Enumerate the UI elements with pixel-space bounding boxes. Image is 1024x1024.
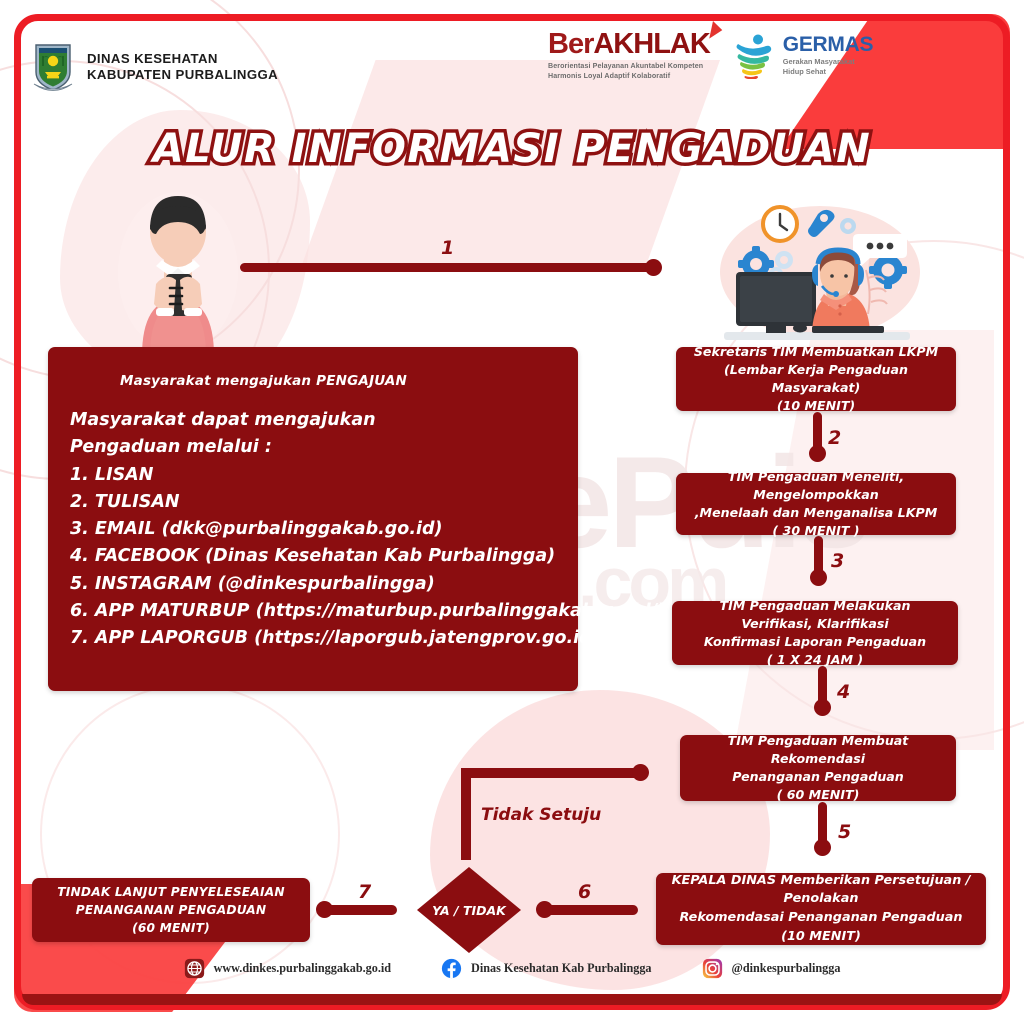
list-item: 1. LISAN [70, 462, 556, 489]
list-item: 4. FACEBOOK (Dinas Kesehatan Kab Purbali… [70, 543, 556, 570]
organization-logo-block: DINAS KESEHATAN KABUPATEN PURBALINGGA [32, 42, 278, 92]
germas-sub-1: Gerakan Masyarakat [783, 57, 873, 67]
germas-figure-icon [732, 33, 776, 79]
list-item: 3. EMAIL (dkk@purbalinggakab.go.id) [70, 516, 556, 543]
org-line-1: DINAS KESEHATAN [87, 51, 278, 68]
step-box-1: Sekretaris TIM Membuatkan LKPM (Lembar K… [676, 347, 956, 411]
connector-6-number: 6 [578, 881, 591, 903]
footer-contacts: www.dinkes.purbalinggakab.go.id Dinas Ke… [22, 950, 1002, 986]
connector-2-dot [809, 445, 826, 462]
step-5-line-3: (10 MENIT) [666, 928, 976, 947]
step-2-line-1: TIM Pengaduan Meneliti, Mengelompokkan [686, 468, 946, 505]
final-line-2: PENANGANAN PENGADUAN [32, 901, 310, 919]
step-4-line-1: TIM Pengaduan Membuat Rekomendasi [690, 732, 946, 769]
intake-intro-line-2: Pengaduan melalui : [70, 434, 556, 461]
connector-1-dot [645, 259, 662, 276]
brand-logos: BerAKHLAK Berorientasi Pelayanan Akuntab… [548, 30, 873, 82]
reject-connector-dot [632, 764, 649, 781]
connector-7-line [325, 905, 397, 915]
final-line-1: TINDAK LANJUT PENYELESEAIAN [32, 883, 310, 901]
step-3-line-3: ( 1 X 24 JAM ) [682, 651, 948, 669]
reject-label: Tidak Setuju [481, 805, 601, 825]
step-1-line-2: (Lembar Kerja Pengaduan Masyarakat) [686, 361, 946, 398]
page-title: ALUR INFORMASI PENGADUAN [0, 126, 1024, 172]
list-item: 7. APP LAPORGUB (https://laporgub.jateng… [70, 625, 556, 652]
final-action-box: TINDAK LANJUT PENYELESEAIAN PENANGANAN P… [32, 878, 310, 942]
berakhlak-tagline-1: Berorientasi Pelayanan Akuntabel Kompete… [548, 61, 710, 71]
berakhlak-prefix: Ber [548, 28, 593, 60]
step-4-line-2: Penanganan Pengaduan [690, 768, 946, 786]
facebook-icon [441, 958, 462, 979]
footer-instagram[interactable]: @dinkespurbalingga [702, 958, 841, 979]
connector-1-number: 1 [441, 237, 454, 259]
footer-facebook[interactable]: Dinas Kesehatan Kab Purbalingga [441, 958, 651, 979]
footer-website-text: www.dinkes.purbalinggakab.go.id [214, 961, 391, 976]
decision-label: YA / TIDAK [417, 867, 521, 953]
step-5-line-1: KEPALA DINAS Memberikan Persetujuan / Pe… [666, 872, 976, 909]
germas-title: GERMAS [783, 34, 873, 55]
connector-3-dot [810, 569, 827, 586]
intake-heading: Masyarakat mengajukan PENGAJUAN [120, 373, 556, 389]
intake-channels-box: Masyarakat mengajukan PENGAJUAN Masyarak… [48, 347, 578, 691]
berakhlak-wordmark: BerAKHLAK [548, 30, 710, 59]
final-line-3: (60 MENIT) [32, 919, 310, 937]
instagram-icon [702, 958, 723, 979]
intake-intro-line-1: Masyarakat dapat mengajukan [70, 407, 556, 434]
step-3-line-2: Konfirmasi Laporan Pengaduan [682, 633, 948, 651]
reject-connector-horizontal [461, 768, 641, 778]
list-item: 2. TULISAN [70, 489, 556, 516]
step-4-line-3: ( 60 MENIT) [690, 786, 946, 804]
berakhlak-logo: BerAKHLAK Berorientasi Pelayanan Akuntab… [548, 30, 710, 82]
step-3-line-1: TIM Pengaduan Melakukan Verifikasi, Klar… [682, 597, 948, 634]
step-5-line-2: Rekomendasai Penanganan Pengaduan [666, 909, 976, 928]
footer-facebook-text: Dinas Kesehatan Kab Purbalingga [471, 961, 651, 976]
connector-6-line [540, 905, 638, 915]
intake-body: Masyarakat dapat mengajukan Pengaduan me… [70, 407, 556, 653]
globe-icon [184, 958, 205, 979]
list-item: 6. APP MATURBUP (https://maturbup.purbal… [70, 598, 556, 625]
connector-7-dot [316, 901, 333, 918]
berakhlak-tagline-2: Harmonis Loyal Adaptif Kolaboratif [548, 71, 710, 81]
connector-5-dot [814, 839, 831, 856]
poster-footer: www.dinkes.purbalinggakab.go.id Dinas Ke… [22, 950, 1002, 1002]
connector-4-number: 4 [837, 681, 850, 703]
connector-5-number: 5 [838, 821, 851, 843]
person-holding-phone-illustration [112, 176, 244, 356]
connector-3-number: 3 [831, 550, 844, 572]
step-2-line-2: ,Menelaah dan Menganalisa LKPM [686, 504, 946, 522]
list-item: 5. INSTAGRAM (@dinkespurbalingga) [70, 571, 556, 598]
step-box-4: TIM Pengaduan Membuat Rekomendasi Penang… [680, 735, 956, 801]
germas-logo: GERMAS Gerakan Masyarakat Hidup Sehat [732, 33, 873, 79]
germas-text: GERMAS Gerakan Masyarakat Hidup Sehat [783, 34, 873, 78]
step-box-2: TIM Pengaduan Meneliti, Mengelompokkan ,… [676, 473, 956, 535]
berakhlak-tick-icon [709, 21, 724, 41]
connector-2-number: 2 [828, 427, 841, 449]
step-box-5: KEPALA DINAS Memberikan Persetujuan / Pe… [656, 873, 986, 945]
poster-header: DINAS KESEHATAN KABUPATEN PURBALINGGA Be… [32, 34, 992, 100]
step-box-3: TIM Pengaduan Melakukan Verifikasi, Klar… [672, 601, 958, 665]
org-line-2: KABUPATEN PURBALINGGA [87, 67, 278, 84]
connector-7-number: 7 [358, 881, 371, 903]
decision-diamond: YA / TIDAK [417, 867, 521, 953]
berakhlak-main: AKHLAK [593, 28, 709, 60]
reject-connector-vertical [461, 768, 471, 860]
call-center-agent-illustration [700, 190, 932, 348]
intake-channel-list: 1. LISAN 2. TULISAN 3. EMAIL (dkk@purbal… [70, 462, 556, 653]
infographic-poster: ePuis .com DINAS KESEHATAN KABUPATEN PUR… [0, 0, 1024, 1024]
footer-bar [22, 994, 1002, 1005]
purbalingga-coat-of-arms-icon [32, 42, 74, 92]
germas-sub-2: Hidup Sehat [783, 67, 873, 77]
step-1-line-1: Sekretaris TIM Membuatkan LKPM [686, 343, 946, 361]
connector-4-dot [814, 699, 831, 716]
organization-name: DINAS KESEHATAN KABUPATEN PURBALINGGA [87, 51, 278, 84]
footer-website[interactable]: www.dinkes.purbalinggakab.go.id [184, 958, 391, 979]
connector-6-dot [536, 901, 553, 918]
footer-instagram-text: @dinkespurbalingga [732, 961, 841, 976]
connector-1-line [240, 263, 654, 272]
